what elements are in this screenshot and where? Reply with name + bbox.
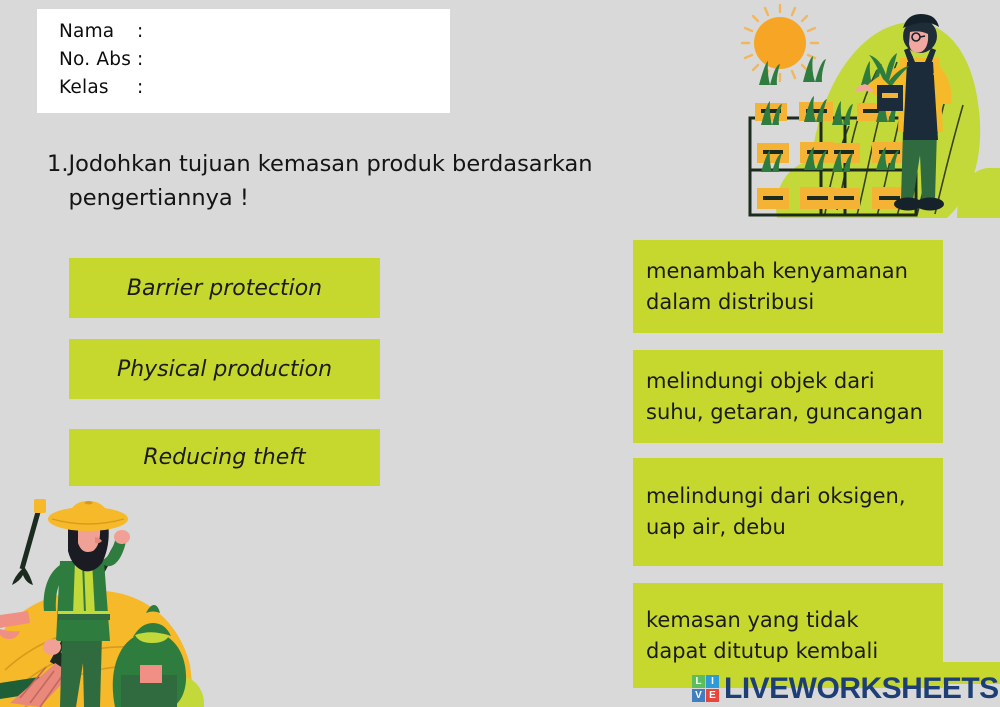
student-identity-box: Nama : No. Abs : Kelas :	[37, 9, 450, 113]
street-sweeper-illustration	[0, 495, 212, 707]
litter-grabber	[12, 499, 46, 585]
liveworksheets-logo: L I V E LIVEWORKSHEETS	[692, 672, 999, 705]
match-right-line-3a: melindungi dari oksigen,	[646, 481, 906, 512]
match-right-label-2: melindungi objek dari suhu, getaran, gun…	[646, 366, 923, 428]
match-left-label-3: Reducing theft	[143, 445, 305, 470]
question-number: 1.	[47, 147, 68, 181]
match-right-line-4a: kemasan yang tidak	[646, 605, 878, 636]
match-left-item-1[interactable]: Barrier protection	[69, 258, 380, 318]
gardener-illustration	[717, 0, 1000, 218]
identity-colon-kelas: :	[137, 77, 151, 98]
match-right-label-1: menambah kenyamanan dalam distribusi	[646, 256, 908, 318]
logo-tile-l: L	[692, 675, 705, 688]
identity-colon-nama: :	[137, 21, 151, 42]
identity-row-kelas: Kelas :	[59, 77, 450, 105]
match-right-line-1a: menambah kenyamanan	[646, 256, 908, 287]
identity-row-nama: Nama :	[59, 21, 450, 49]
identity-label-kelas: Kelas	[59, 77, 137, 98]
match-right-line-2a: melindungi objek dari	[646, 366, 923, 397]
match-right-line-2b: suhu, getaran, guncangan	[646, 397, 923, 428]
logo-tile-i: I	[706, 675, 719, 688]
logo-tile-v: V	[692, 689, 705, 702]
question-text: Jodohkan tujuan kemasan produk berdasark…	[68, 147, 667, 215]
identity-label-no-abs: No. Abs	[59, 49, 137, 70]
match-right-label-3: melindungi dari oksigen, uap air, debu	[646, 481, 906, 543]
logo-tile-e: E	[706, 689, 719, 702]
match-right-label-4: kemasan yang tidak dapat ditutup kembali	[646, 605, 878, 667]
worksheet-page: Nama : No. Abs : Kelas : 1. Jodohkan tuj…	[0, 0, 1000, 707]
match-right-item-1[interactable]: menambah kenyamanan dalam distribusi	[633, 240, 943, 333]
match-right-item-3[interactable]: melindungi dari oksigen, uap air, debu	[633, 458, 943, 566]
identity-row-no-abs: No. Abs :	[59, 49, 450, 77]
match-right-line-1b: dalam distribusi	[646, 287, 908, 318]
match-right-item-2[interactable]: melindungi objek dari suhu, getaran, gun…	[633, 350, 943, 443]
match-left-item-3[interactable]: Reducing theft	[69, 429, 380, 486]
identity-label-nama: Nama	[59, 21, 137, 42]
match-left-label-1: Barrier protection	[127, 276, 322, 301]
logo-tiles: L I V E	[692, 675, 719, 702]
identity-colon-no-abs: :	[137, 49, 151, 70]
logo-wordmark: LIVEWORKSHEETS	[724, 674, 999, 704]
match-left-item-2[interactable]: Physical production	[69, 339, 380, 399]
match-right-line-3b: uap air, debu	[646, 512, 906, 543]
match-left-label-2: Physical production	[117, 357, 332, 382]
question-1: 1. Jodohkan tujuan kemasan produk berdas…	[47, 147, 667, 215]
